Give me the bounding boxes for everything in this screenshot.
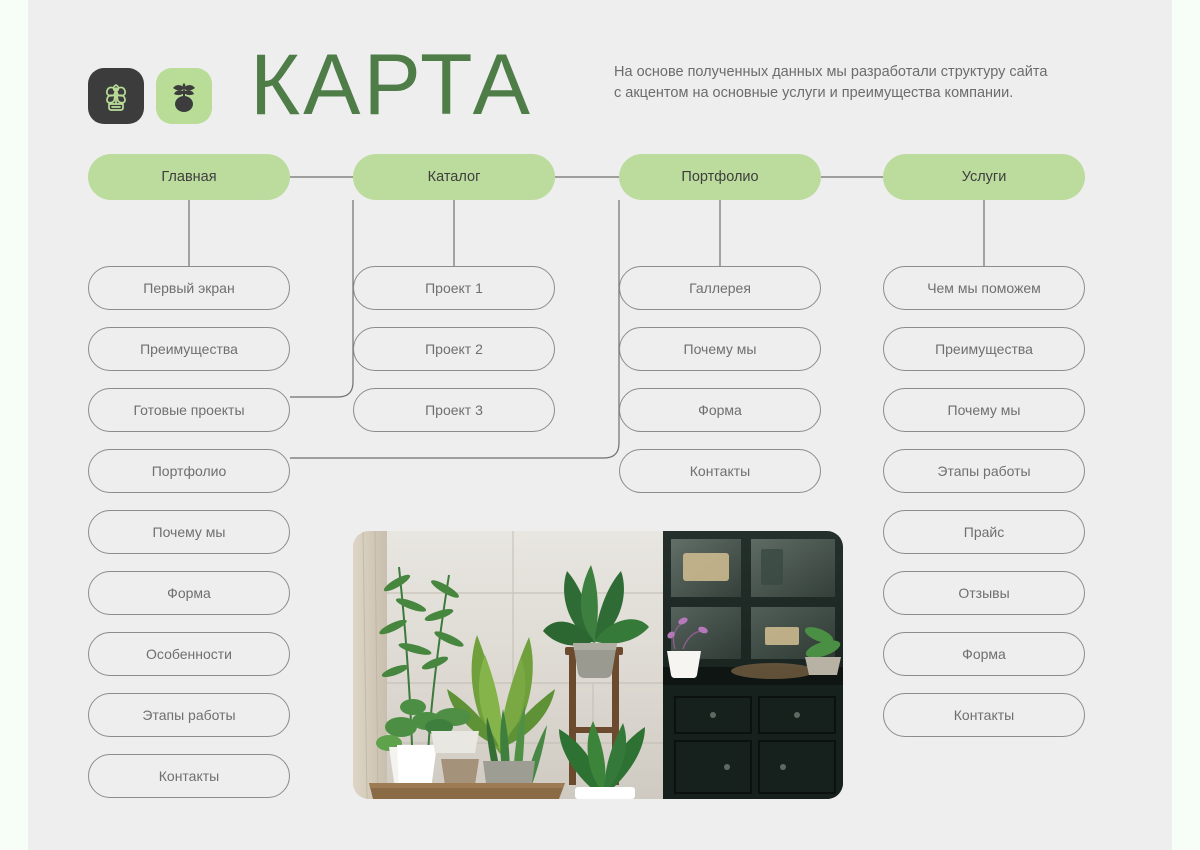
node-head-glavnaya[interactable]: Главная — [88, 154, 290, 200]
node-item[interactable]: Отзывы — [883, 571, 1085, 615]
intro-text: На основе полученных данных мы разработа… — [614, 62, 1084, 104]
node-item[interactable]: Этапы работы — [883, 449, 1085, 493]
node-item[interactable]: Проект 1 — [353, 266, 555, 310]
sitemap-column-uslugi: Услуги Чем мы поможем Преимущества Почем… — [883, 154, 1085, 200]
node-list-uslugi: Чем мы поможем Преимущества Почему мы Эт… — [883, 266, 1085, 754]
node-item[interactable]: Почему мы — [88, 510, 290, 554]
node-item[interactable]: Первый экран — [88, 266, 290, 310]
header: КАРТА На основе полученных данных мы раз… — [28, 0, 1172, 160]
node-head-portfolio[interactable]: Портфолио — [619, 154, 821, 200]
plant-potted-icon — [156, 68, 212, 124]
node-list-glavnaya: Первый экран Преимущества Готовые проект… — [88, 266, 290, 815]
sitemap-column-portfolio: Портфолио Галлерея Почему мы Форма Конта… — [619, 154, 821, 200]
node-head-uslugi[interactable]: Услуги — [883, 154, 1085, 200]
intro-line-2: с акцентом на основные услуги и преимуще… — [614, 83, 1084, 104]
node-head-katalog[interactable]: Каталог — [353, 154, 555, 200]
sitemap-canvas: КАРТА На основе полученных данных мы раз… — [28, 0, 1172, 850]
node-item[interactable]: Готовые проекты — [88, 388, 290, 432]
node-item[interactable]: Проект 2 — [353, 327, 555, 371]
node-item[interactable]: Преимущества — [88, 327, 290, 371]
sitemap-page: КАРТА На основе полученных данных мы раз… — [0, 0, 1200, 850]
node-item[interactable]: Контакты — [883, 693, 1085, 737]
node-item[interactable]: Почему мы — [883, 388, 1085, 432]
node-list-katalog: Проект 1 Проект 2 Проект 3 — [353, 266, 555, 449]
intro-line-1: На основе полученных данных мы разработа… — [614, 62, 1084, 83]
node-item[interactable]: Портфолио — [88, 449, 290, 493]
houseplants-interior-photo — [353, 531, 843, 799]
sitemap-column-glavnaya: Главная Первый экран Преимущества Готовы… — [88, 154, 290, 200]
node-item[interactable]: Форма — [619, 388, 821, 432]
sitemap-column-katalog: Каталог Проект 1 Проект 2 Проект 3 — [353, 154, 555, 200]
node-item[interactable]: Проект 3 — [353, 388, 555, 432]
node-item[interactable]: Чем мы поможем — [883, 266, 1085, 310]
node-item[interactable]: Преимущества — [883, 327, 1085, 371]
node-item[interactable]: Особенности — [88, 632, 290, 676]
node-item[interactable]: Галлерея — [619, 266, 821, 310]
plant-monstera-icon — [88, 68, 144, 124]
page-title: КАРТА — [250, 42, 533, 128]
node-list-portfolio: Галлерея Почему мы Форма Контакты — [619, 266, 821, 510]
node-item[interactable]: Контакты — [88, 754, 290, 798]
node-item[interactable]: Этапы работы — [88, 693, 290, 737]
node-item[interactable]: Форма — [88, 571, 290, 615]
node-item[interactable]: Форма — [883, 632, 1085, 676]
node-item[interactable]: Почему мы — [619, 327, 821, 371]
node-item[interactable]: Прайс — [883, 510, 1085, 554]
node-item[interactable]: Контакты — [619, 449, 821, 493]
